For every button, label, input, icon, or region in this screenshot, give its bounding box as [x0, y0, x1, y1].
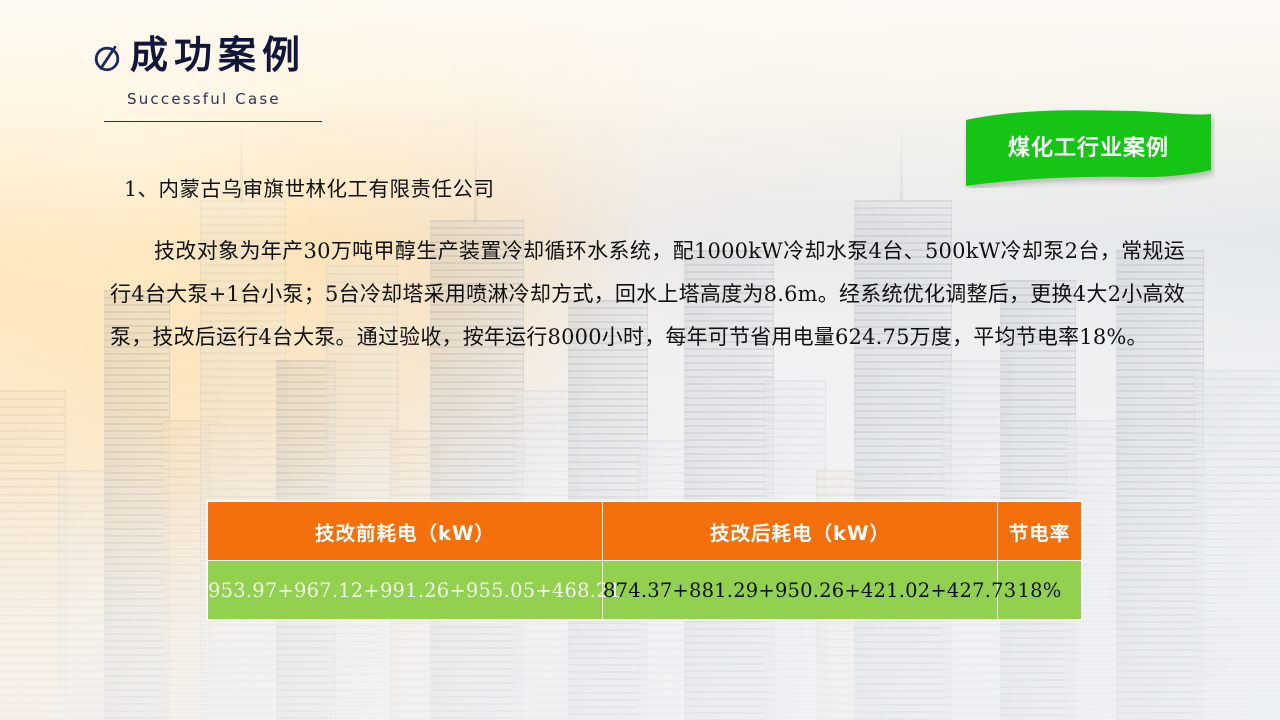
case-paragraph: 技改对象为年产30万吨甲醇生产装置冷却循环水系统，配1000kW冷却水泵4台、5… [110, 230, 1185, 359]
table-header-after: 技改后耗电（kW） [603, 502, 998, 561]
title-divider [104, 121, 322, 122]
table-row: 953.97+967.12+991.26+955.05+468.21 874.3… [208, 561, 1082, 620]
page-title-text: 成功案例 [130, 36, 306, 74]
cell-before-value: 953.97+967.12+991.26+955.05+468.21 [208, 561, 603, 620]
body-content: 1、内蒙古乌审旗世林化工有限责任公司 技改对象为年产30万吨甲醇生产装置冷却循环… [110, 176, 1185, 359]
table-header-savingrate: 节电率 [998, 502, 1082, 561]
page-subtitle: Successful Case [127, 90, 512, 108]
industry-badge-label: 煤化工行业案例 [962, 130, 1215, 162]
energy-comparison-table: 技改前耗电（kW） 技改后耗电（kW） 节电率 953.97+967.12+99… [207, 501, 1082, 620]
cell-after-value: 874.37+881.29+950.26+421.02+427.73 [603, 561, 998, 620]
circle-slash-icon [92, 41, 122, 71]
table-header-before: 技改前耗电（kW） [208, 502, 603, 561]
case-heading: 1、内蒙古乌审旗世林化工有限责任公司 [124, 176, 1185, 204]
table-header-row: 技改前耗电（kW） 技改后耗电（kW） 节电率 [208, 502, 1082, 561]
slide-canvas: 成功案例 Successful Case 煤化工行业案例 1、内蒙古乌审旗世林化… [0, 0, 1280, 720]
page-title: 成功案例 [92, 36, 512, 74]
page-title-block: 成功案例 Successful Case [92, 36, 512, 122]
